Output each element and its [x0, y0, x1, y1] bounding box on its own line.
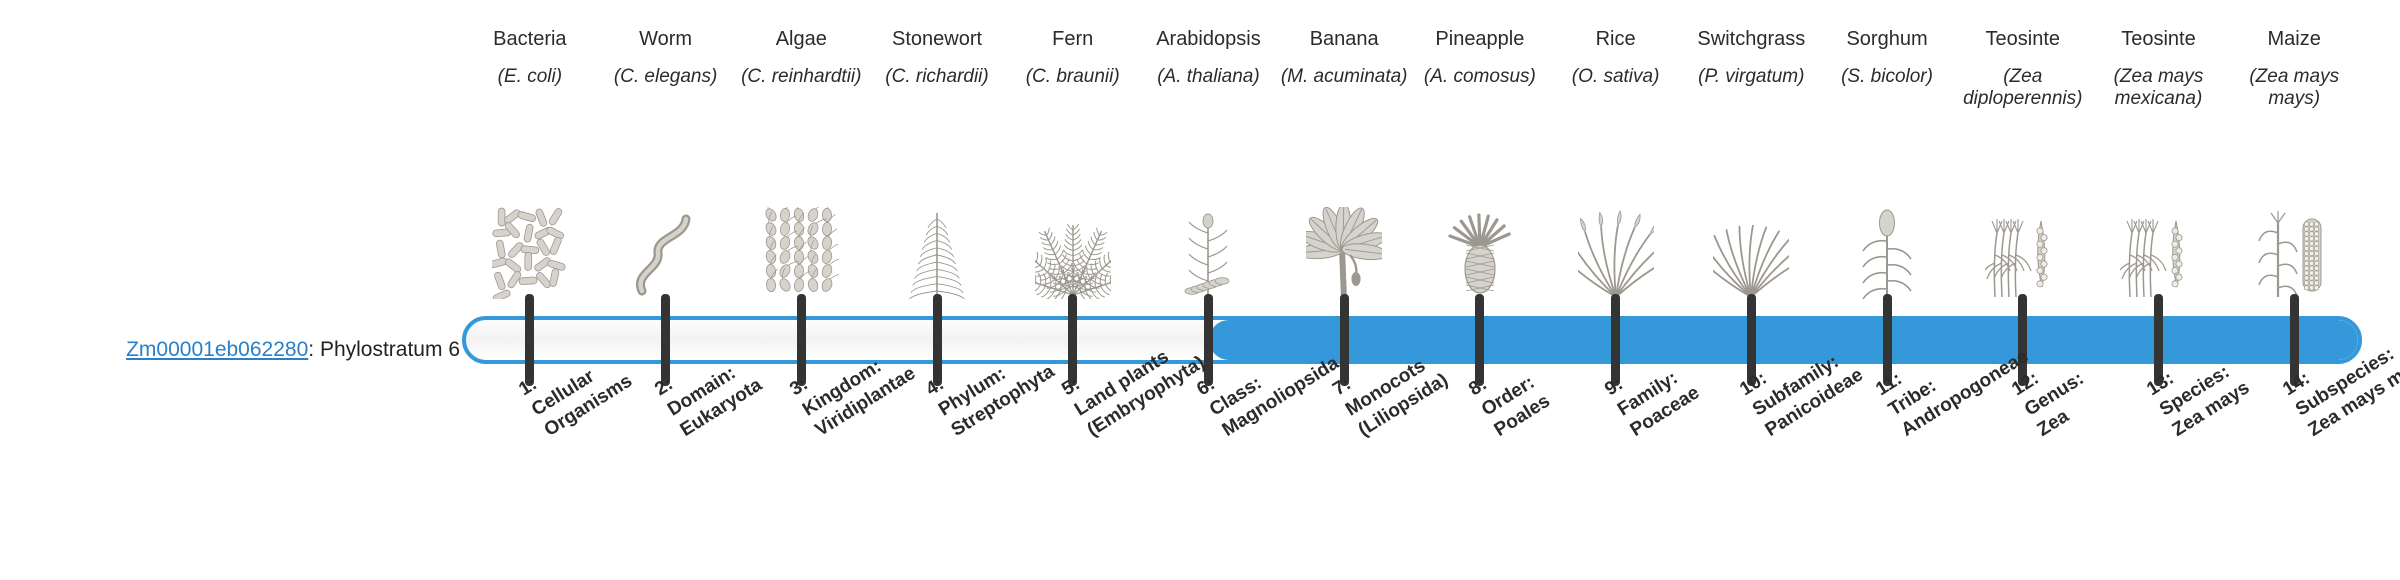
gene-label-separator: : [308, 338, 320, 361]
gene-id-link[interactable]: Zm00001eb062280 [126, 338, 308, 361]
species-latin-name: (C. reinhardtii) [741, 66, 861, 88]
species-column: Bacteria(E. coli) [462, 28, 598, 303]
species-latin-name: (C. richardii) [885, 66, 988, 88]
species-latin-name: (S. bicolor) [1841, 66, 1933, 88]
species-latin-name: (P. virgatum) [1698, 66, 1804, 88]
species-latin-name: (E. coli) [498, 66, 562, 88]
species-common-name: Teosinte [1986, 28, 2061, 52]
species-common-name: Algae [776, 28, 827, 52]
phylostratum-timeline: Zm00001eb062280: Phylostratum 6 Bacteria… [0, 0, 2400, 580]
stratum-labels-row: 1:CellularOrganisms2:Domain:Eukaryota3:K… [462, 372, 2362, 580]
species-common-name: Fern [1052, 28, 1093, 52]
species-common-name: Banana [1310, 28, 1379, 52]
species-latin-name: (Zea diploperennis) [1957, 66, 2089, 111]
species-latin-name: (M. acuminata) [1281, 66, 1408, 88]
species-common-name: Rice [1596, 28, 1636, 52]
species-latin-name: (A. thaliana) [1157, 66, 1259, 88]
species-common-name: Pineapple [1435, 28, 1524, 52]
bacteria-illustration [464, 205, 596, 303]
phylostratum-value: Phylostratum 6 [320, 338, 460, 361]
species-latin-name: (Zea mays mays) [2228, 66, 2360, 111]
species-latin-name: (A. comosus) [1424, 66, 1536, 88]
species-common-name: Maize [2268, 28, 2321, 52]
species-common-name: Sorghum [1846, 28, 1927, 52]
species-common-name: Teosinte [2121, 28, 2196, 52]
gene-phylostratum-label: Zm00001eb062280: Phylostratum 6 [40, 338, 460, 362]
species-latin-name: (C. braunii) [1026, 66, 1120, 88]
species-common-name: Worm [639, 28, 692, 52]
species-common-name: Bacteria [493, 28, 566, 52]
species-latin-name: (O. sativa) [1572, 66, 1660, 88]
species-latin-name: (Zea mays mexicana) [2093, 66, 2225, 111]
species-common-name: Switchgrass [1697, 28, 1805, 52]
species-common-name: Stonewort [892, 28, 982, 52]
species-common-name: Arabidopsis [1156, 28, 1261, 52]
species-latin-name: (C. elegans) [614, 66, 718, 88]
